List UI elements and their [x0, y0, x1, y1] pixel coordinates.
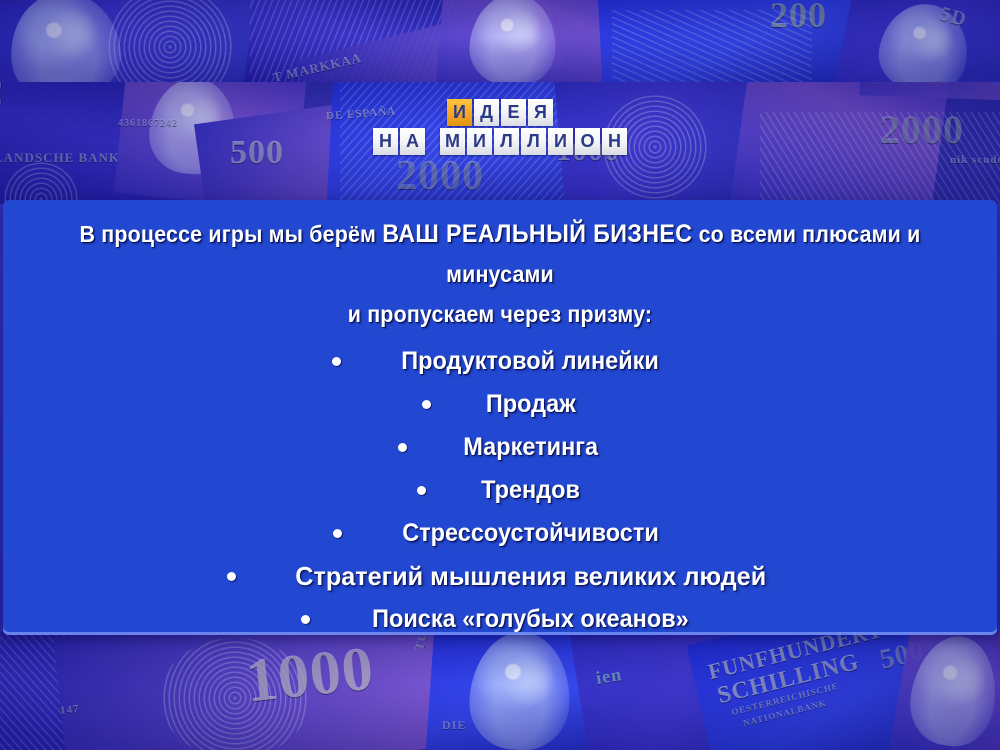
bullet-dot-icon — [422, 400, 431, 409]
logo-tile-ideya-1: Д — [474, 99, 499, 126]
bullet-item: Стратегий мышления великих людей — [21, 555, 979, 598]
prism-bullet-list: Продуктовой линейкиПродажМаркетингаТренд… — [21, 340, 979, 632]
logo-tile-million-1: И — [467, 128, 492, 155]
intro-paragraph: В процессе игры мы берём ВАШ РЕАЛЬНЫЙ БИ… — [55, 214, 946, 334]
intro-emphasis: ВАШ РЕАЛЬНЫЙ БИЗНЕС — [382, 220, 692, 248]
bullet-dot-icon — [301, 615, 310, 624]
background-vignette — [0, 632, 1000, 750]
logo-tile-ideya-0: И — [447, 99, 472, 126]
logo-tile-na-1: А — [400, 128, 425, 155]
bullet-item: Продаж — [21, 383, 979, 426]
intro-prefix: В процессе игры мы берём — [80, 221, 383, 247]
logo-tile-million-5: О — [575, 128, 600, 155]
content-panel: В процессе игры мы берём ВАШ РЕАЛЬНЫЙ БИ… — [3, 200, 997, 632]
intro-line-2: и пропускаем через призму: — [55, 294, 946, 334]
logo-row-ideya: ИДЕЯ — [447, 99, 553, 126]
logo-tile-ideya-2: Е — [501, 99, 526, 126]
logo-tile-million-0: М — [440, 128, 465, 155]
ideya-na-million-logo: ИДЕЯ НАМИЛЛИОН — [0, 99, 1000, 155]
bullet-dot-icon — [227, 572, 236, 581]
logo-tile-spacer — [427, 128, 438, 155]
intro-line-1: В процессе игры мы берём ВАШ РЕАЛЬНЫЙ БИ… — [55, 214, 946, 294]
logo-tile-ideya-3: Я — [528, 99, 553, 126]
bullet-dot-icon — [398, 443, 407, 452]
bullet-dot-icon — [333, 529, 342, 538]
logo-tile-million-2: Л — [494, 128, 519, 155]
bullet-item: Маркетинга — [21, 426, 979, 469]
bullet-label: Продаж — [486, 383, 576, 426]
bullet-item: Трендов — [21, 469, 979, 512]
bullet-dot-icon — [417, 486, 426, 495]
bullet-dot-icon — [332, 357, 341, 366]
logo-row-na-million: НАМИЛЛИОН — [373, 128, 627, 155]
logo-tile-million-3: Л — [521, 128, 546, 155]
background-band-bottom: 1000 147 TUSEN MUSEUM DIE ien FUNFHUNDER… — [0, 632, 1000, 750]
bullet-label: Маркетинга — [463, 426, 598, 469]
bullet-label: Продуктовой линейки — [402, 340, 660, 383]
logo-tile-million-6: Н — [602, 128, 627, 155]
bullet-label: Стрессоустойчивости — [402, 512, 659, 555]
bullet-item: Продуктовой линейки — [21, 340, 979, 383]
background-band-top: T MARKKAA 200 5D — [0, 0, 1000, 82]
slide-root: T MARKKAA 200 5D LANDSCHE BANK SVERIGES … — [0, 0, 1000, 750]
bullet-label: Стратегий мышления великих людей — [295, 555, 766, 598]
bullet-label: Поиска «голубых океанов» — [372, 598, 689, 632]
logo-tile-million-4: И — [548, 128, 573, 155]
background-vignette — [0, 0, 1000, 82]
logo-tile-na-0: Н — [373, 128, 398, 155]
bullet-item: Стрессоустойчивости — [21, 512, 979, 555]
bullet-item: Поиска «голубых океанов» — [21, 598, 979, 632]
bullet-label: Трендов — [481, 469, 580, 512]
